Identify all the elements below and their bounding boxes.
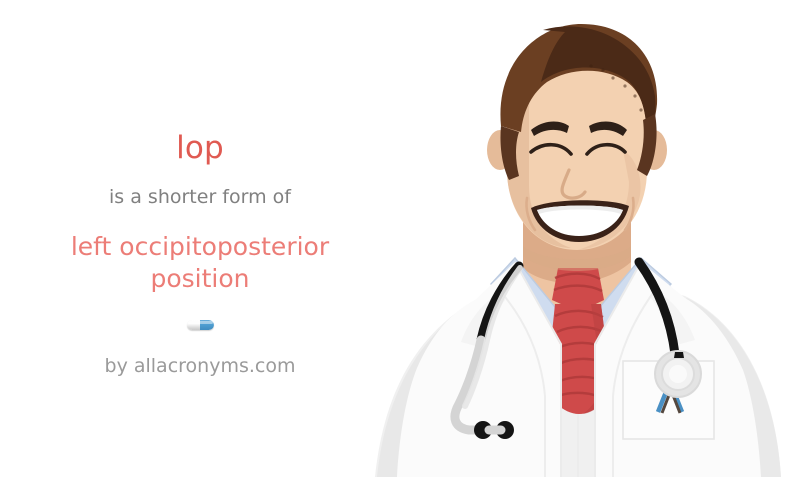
expansion-text: left occipitoposterior position (35, 231, 365, 295)
credit-text: by allacronyms.com (105, 357, 296, 376)
capsule-gloss (188, 321, 213, 324)
doctor-head (487, 24, 667, 250)
acronym-definition-card: lop is a shorter form of left occipitopo… (0, 0, 801, 477)
relation-label: is a shorter form of (109, 188, 291, 207)
acronym-title: lop (176, 133, 224, 164)
smiling-doctor-illustration (355, 0, 801, 477)
divider (0, 319, 400, 331)
capsule-pill-icon (187, 320, 214, 330)
text-panel: lop is a shorter form of left occipitopo… (0, 0, 400, 477)
